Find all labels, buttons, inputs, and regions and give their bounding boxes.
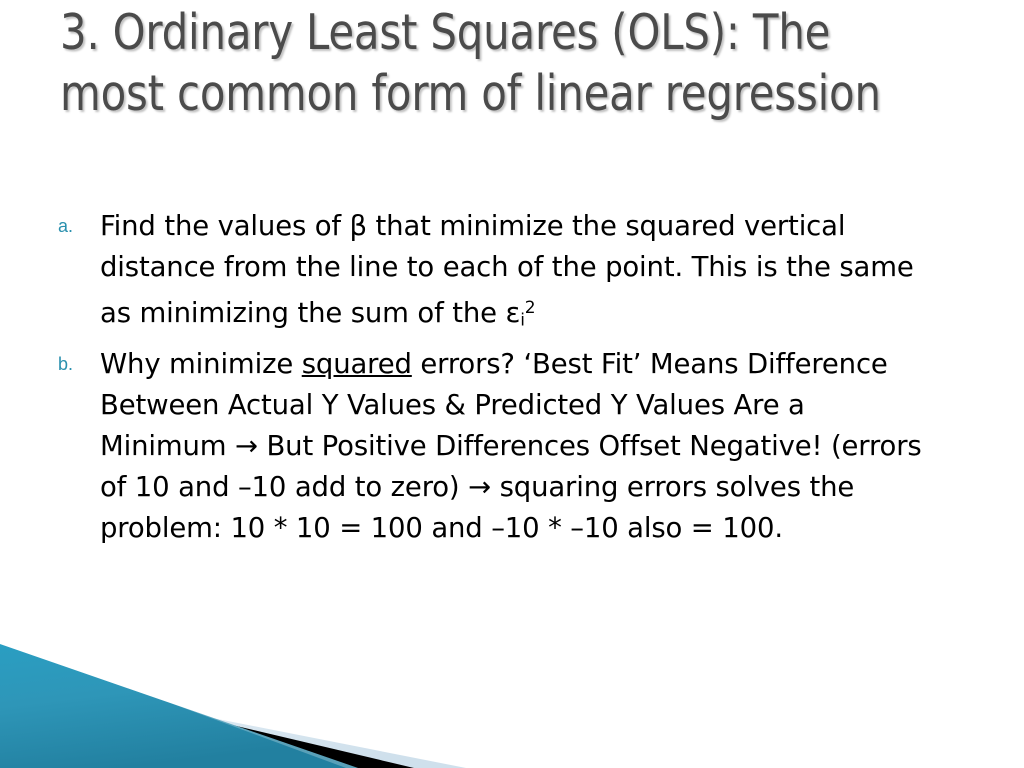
- slide-canvas: 3. Ordinary Least Squares (OLS): The mos…: [0, 0, 1024, 768]
- epsilon-superscript-2: 2: [525, 298, 536, 318]
- decor-band-black: [0, 670, 414, 768]
- bullet-b-segment-1: Why minimize: [100, 348, 302, 380]
- bullet-text-a: Find the values of β that minimize the s…: [100, 206, 928, 342]
- body-placeholder[interactable]: a. Find the values of β that minimize th…: [52, 206, 957, 551]
- bullet-marker-b: b.: [52, 344, 100, 385]
- bullet-a-segment-1: Find the values of: [100, 210, 350, 242]
- corner-decoration: [0, 618, 520, 768]
- list-item[interactable]: a. Find the values of β that minimize th…: [52, 206, 957, 342]
- epsilon-symbol: ε: [505, 297, 520, 329]
- beta-symbol: β: [350, 210, 367, 242]
- decor-band-teal: [0, 644, 358, 768]
- bullet-b-underlined-squared: squared: [302, 348, 412, 380]
- corner-decoration-svg: [0, 618, 520, 768]
- decor-band-highlight: [0, 640, 358, 768]
- decor-band-pale-blue: [0, 676, 466, 768]
- bullet-marker-a: a.: [52, 206, 100, 247]
- title-placeholder[interactable]: 3. Ordinary Least Squares (OLS): The mos…: [60, 2, 960, 124]
- page-title: 3. Ordinary Least Squares (OLS): The mos…: [60, 2, 915, 124]
- bullet-text-b: Why minimize squared errors? ‘Best Fit’ …: [100, 344, 928, 549]
- list-item[interactable]: b. Why minimize squared errors? ‘Best Fi…: [52, 344, 957, 549]
